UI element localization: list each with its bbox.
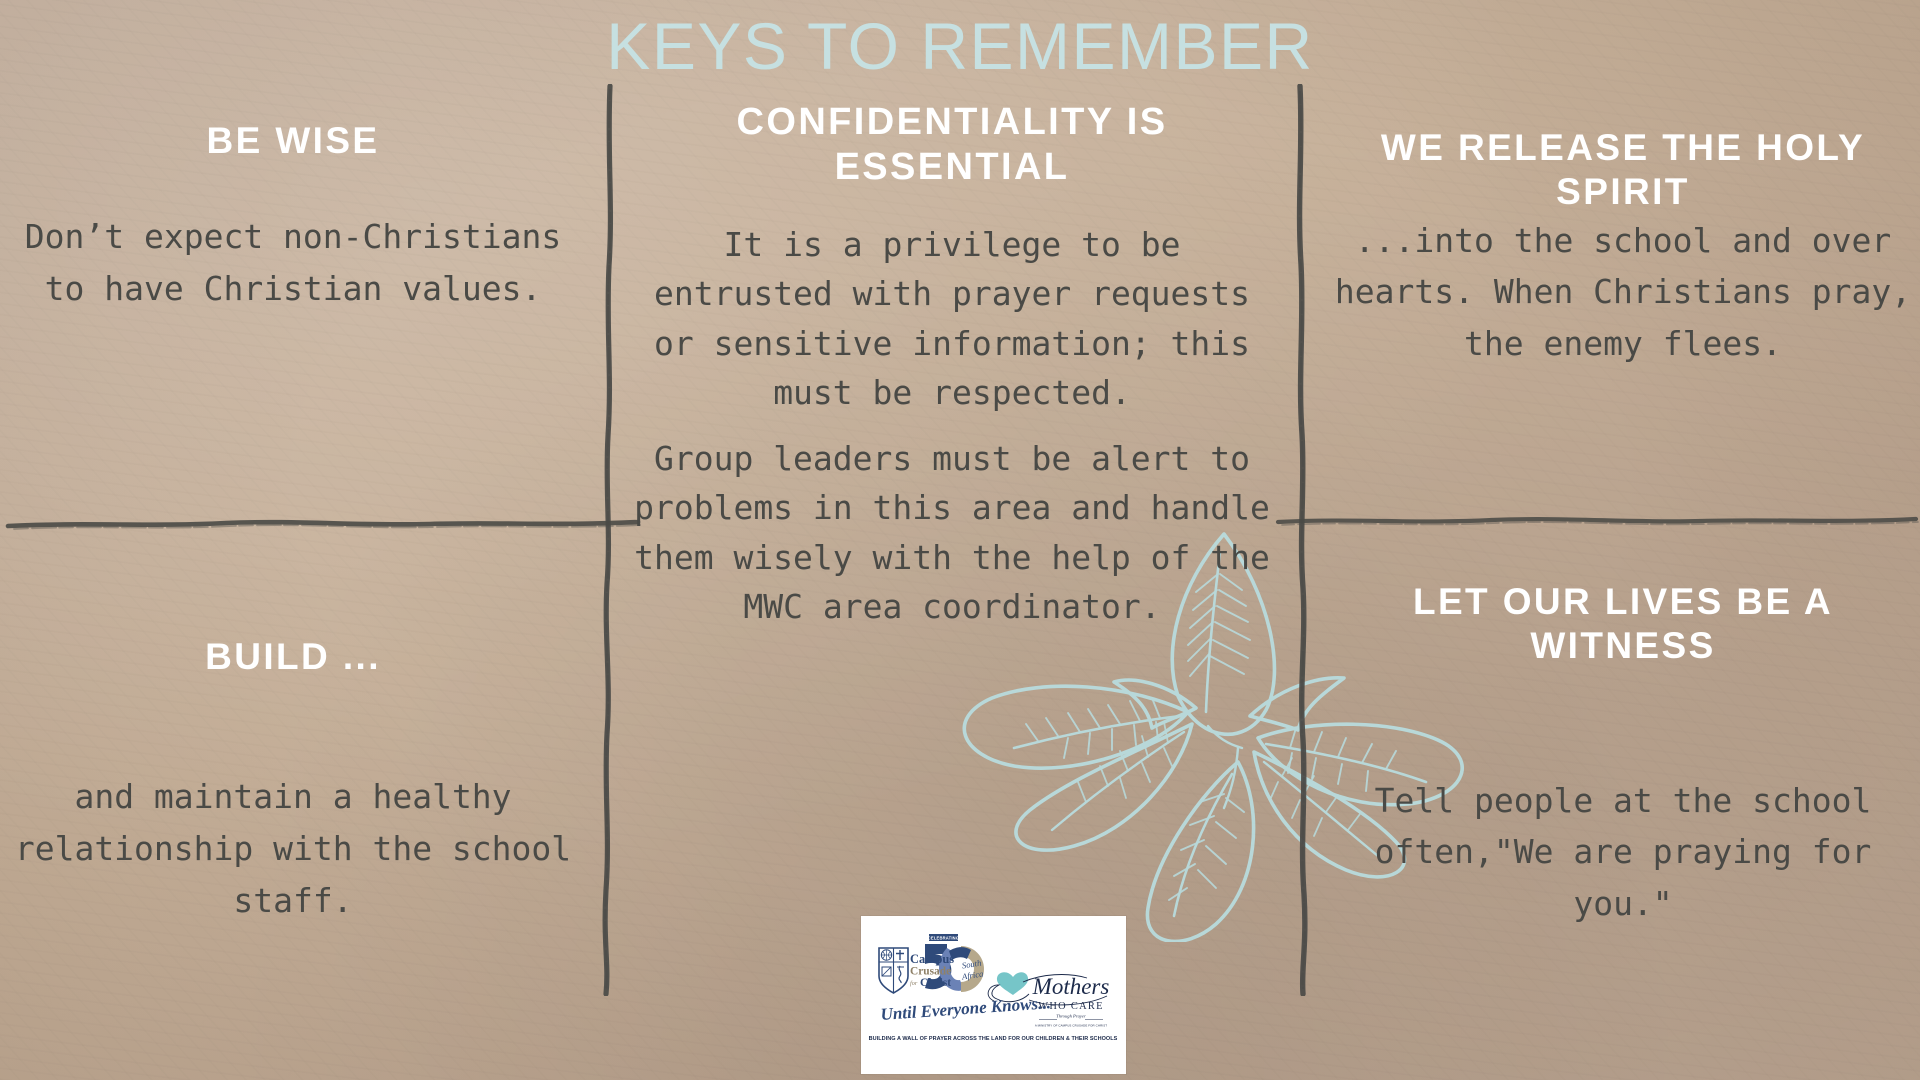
panel-holy-spirit-heading: WE RELEASE THE HOLY SPIRIT <box>1326 126 1920 213</box>
mwc-line-4: A MINISTRY OF CAMPUS CRUSADE FOR CHRIST <box>1035 1024 1107 1028</box>
anniversary-badge: CELEBRATING <box>928 934 959 941</box>
logo-card-artwork: CELEBRATING <box>861 916 1126 1074</box>
page-title: KEYS TO REMEMBER <box>0 12 1920 81</box>
logo-card: CELEBRATING <box>861 916 1126 1074</box>
panel-confidentiality: CONFIDENTIALITY IS ESSENTIAL It is a pri… <box>632 100 1272 632</box>
logo-tagline: BUILDING A WALL OF PRAYER ACROSS THE LAN… <box>869 1036 1118 1042</box>
ccc-line-3: Christ <box>920 977 951 989</box>
ccc-line-3-prefix: for <box>910 980 918 987</box>
horizontal-divider-right <box>1274 498 1920 544</box>
anniversary-badge-label: CELEBRATING <box>928 936 959 941</box>
region-label: South Africa <box>960 958 984 982</box>
panel-build-heading: BUILD ... <box>0 636 586 679</box>
slide-canvas: KEYS TO REMEMBER <box>0 0 1920 1080</box>
ccc-line-2: Crusade <box>910 966 951 978</box>
ccc-wordmark: Campus Crusade for Christ <box>910 952 954 989</box>
panel-witness: LET OUR LIVES BE A WITNESS Tell people a… <box>1326 580 1920 929</box>
panel-witness-body: Tell people at the school often,"We are … <box>1326 775 1920 928</box>
panel-be-wise-body: Don’t expect non-Christians to have Chri… <box>0 211 586 315</box>
panel-confidentiality-heading: CONFIDENTIALITY IS ESSENTIAL <box>632 100 1272 190</box>
crest-shield-icon <box>879 948 908 993</box>
panel-confidentiality-body-1: It is a privilege to be entrusted with p… <box>632 220 1272 418</box>
horizontal-divider-left <box>0 500 646 546</box>
panel-build-body: and maintain a healthy relationship with… <box>0 771 586 926</box>
panel-confidentiality-body-2: Group leaders must be alert to problems … <box>632 434 1272 632</box>
ccc-line-1: Campus <box>910 952 954 966</box>
panel-holy-spirit: WE RELEASE THE HOLY SPIRIT ...into the s… <box>1326 126 1920 369</box>
vertical-divider-left <box>586 84 632 996</box>
mwc-line-3: Through Prayer <box>1056 1014 1086 1019</box>
panel-be-wise-heading: BE WISE <box>0 120 586 163</box>
panel-witness-heading: LET OUR LIVES BE A WITNESS <box>1326 580 1920 667</box>
panel-be-wise: BE WISE Don’t expect non-Christians to h… <box>0 120 586 315</box>
panel-build: BUILD ... and maintain a healthy relatio… <box>0 636 586 926</box>
vertical-divider-right <box>1278 84 1324 996</box>
panel-holy-spirit-body: ...into the school and over hearts. When… <box>1326 215 1920 368</box>
